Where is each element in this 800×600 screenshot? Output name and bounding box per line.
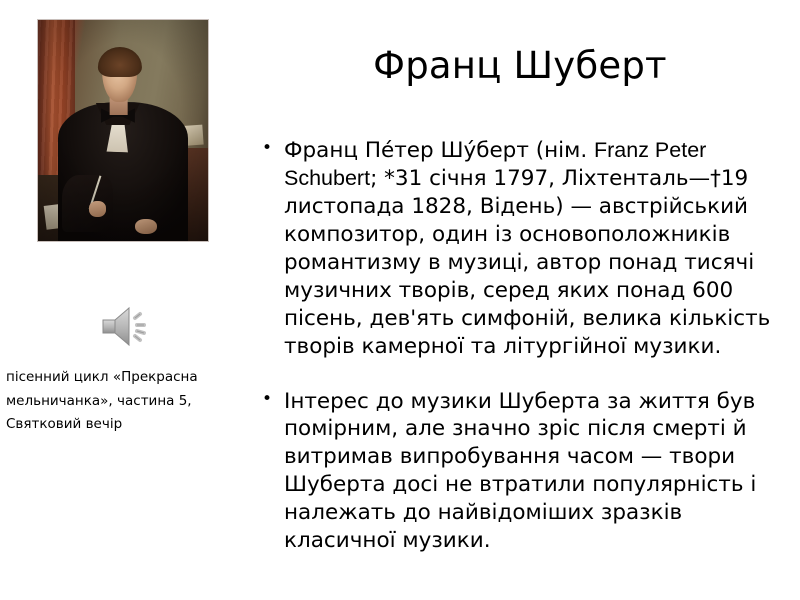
schubert-portrait — [38, 20, 208, 241]
body-bullet-list: Франц Пе́тер Шу́берт (нім. Franz Peter S… — [258, 137, 788, 555]
audio-caption: пісенний цикл «Прекрасна мельничанка», ч… — [6, 366, 252, 437]
list-item: Інтерес до музики Шуберта за життя був п… — [258, 388, 788, 556]
speaker-icon[interactable] — [96, 302, 160, 350]
presentation-slide: пісенний цикл «Прекрасна мельничанка», ч… — [0, 0, 800, 600]
portrait-vignette — [38, 20, 208, 241]
list-item: Франц Пе́тер Шу́берт (нім. Franz Peter S… — [258, 137, 788, 361]
bullet-text-rest: ; *31 січня 1797, Ліхтенталь—†19 листопа… — [284, 166, 770, 359]
page-title: Франц Шуберт — [258, 46, 782, 87]
bullet-text: Інтерес до музики Шуберта за життя був п… — [284, 389, 756, 554]
portrait-canvas — [38, 20, 208, 241]
bullet-text-lead: Франц Пе́тер Шу́берт (нім. — [284, 138, 594, 163]
